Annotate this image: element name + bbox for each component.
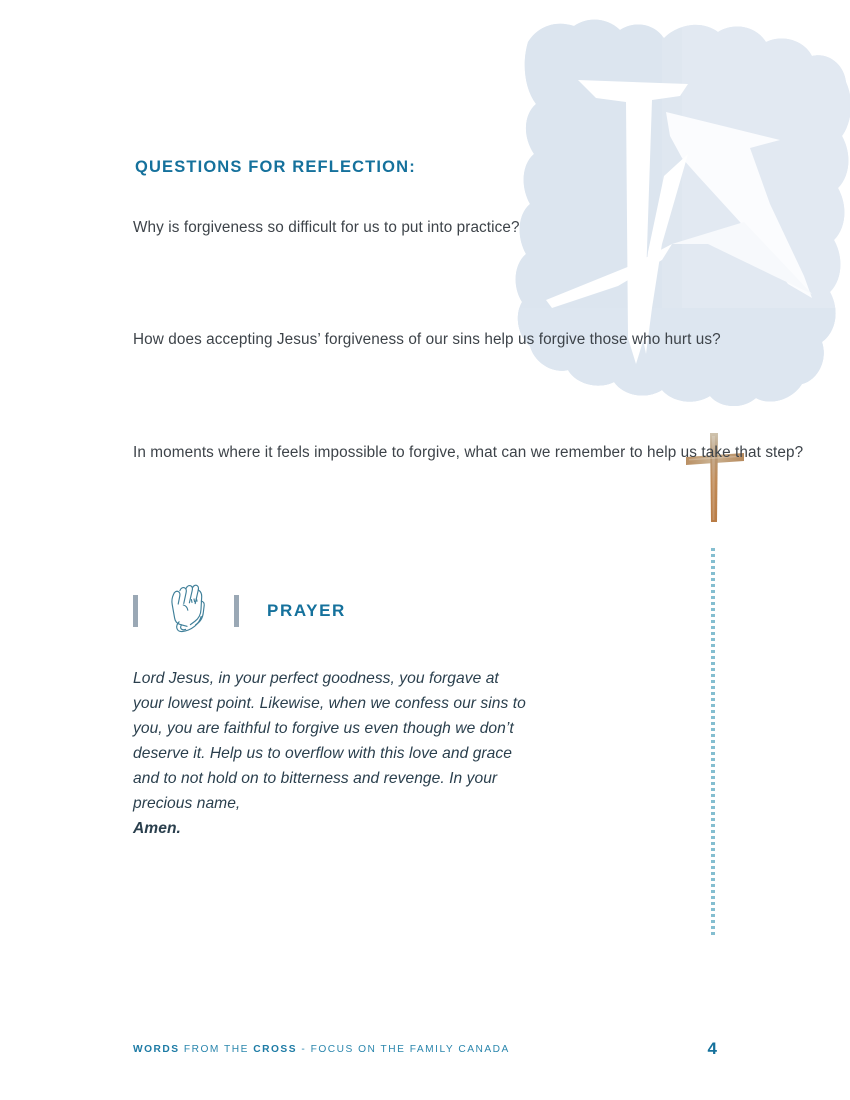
prayer-amen: Amen. [133,816,533,841]
footer-words: WORDS [133,1044,180,1055]
page-title: QUESTIONS FOR REFLECTION: [135,158,416,177]
dashed-vertical-rule [711,548,715,936]
footer-separator: - [301,1044,306,1055]
reflection-question: In moments where it feels impossible to … [133,440,803,465]
footer-from-the: FROM THE [184,1044,249,1055]
crossed-nails-watermark [512,8,850,428]
divider-bar-left [133,595,138,627]
reflection-question: How does accepting Jesus’ forgiveness of… [133,327,721,352]
page-number: 4 [708,1039,717,1059]
footer-cross: CROSS [253,1044,297,1055]
footer-publisher: FOCUS ON THE FAMILY CANADA [311,1044,510,1055]
reflection-question: Why is forgiveness so difficult for us t… [133,215,520,240]
prayer-text: Lord Jesus, in your perfect goodness, yo… [133,666,533,841]
prayer-label: PRAYER [267,601,346,621]
prayer-body-text: Lord Jesus, in your perfect goodness, yo… [133,670,526,812]
praying-hands-icon [160,578,218,636]
footer-attribution: WORDS FROM THE CROSS - FOCUS ON THE FAMI… [133,1044,510,1055]
document-page: QUESTIONS FOR REFLECTION: Why is forgive… [0,0,850,1100]
page-footer: WORDS FROM THE CROSS - FOCUS ON THE FAMI… [133,1037,717,1057]
prayer-header: PRAYER [133,588,346,634]
divider-bar-right [234,595,239,627]
